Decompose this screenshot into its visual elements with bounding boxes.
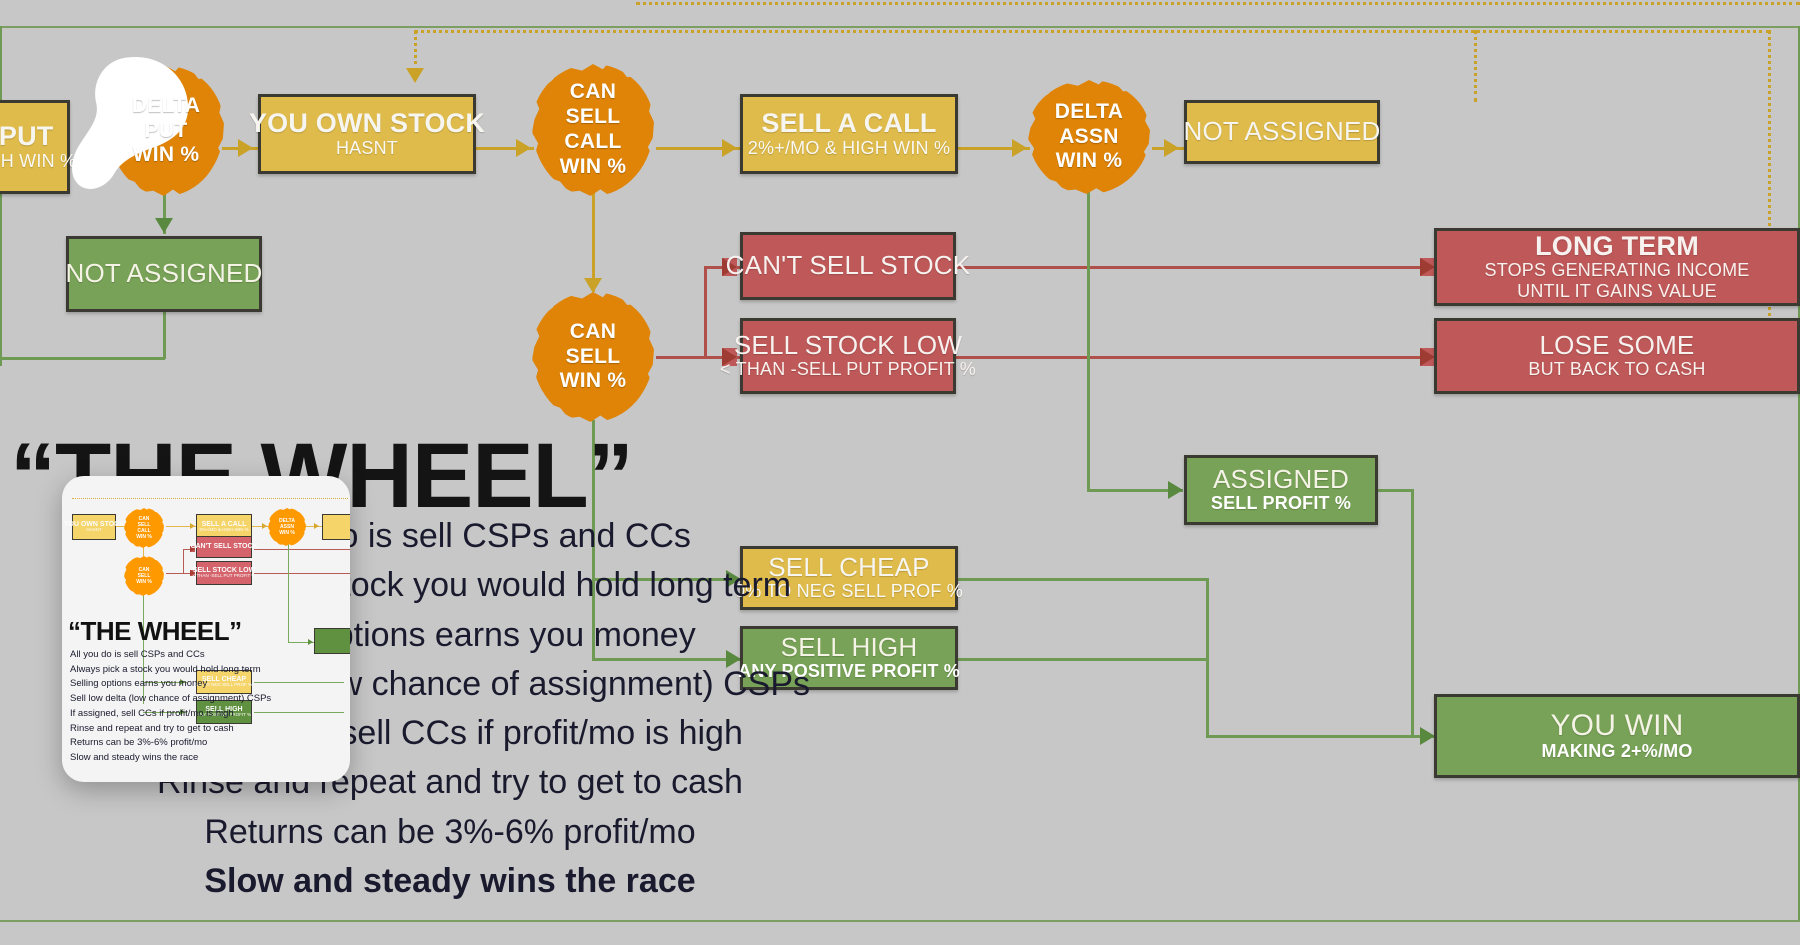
mini-bullet-item: Slow and steady wins the race [70, 751, 271, 766]
mini-gear-can-sell-call[interactable]: CAN SELL CALL WIN % [124, 508, 164, 548]
conn-notassigned-left-down [163, 309, 166, 359]
gear-can-sell-call-line4: WIN % [560, 155, 627, 180]
conn-sellcheap-right [958, 578, 1208, 581]
mini-bullet-item: Returns can be 3%-6% profit/mo [70, 736, 271, 751]
node-not-assigned-right[interactable]: NOT ASSIGNED [1184, 100, 1380, 164]
node-you-own-stock-sub: HASNT [336, 138, 398, 159]
conn-assigned-down [1411, 489, 1414, 737]
conn-notassigned-left-back [0, 357, 165, 360]
gear-can-sell-line2: SELL [566, 345, 621, 370]
node-cant-sell-stock-title: CAN'T SELL STOCK [726, 252, 971, 279]
mini-node-assigned[interactable] [314, 628, 350, 654]
gear-can-sell[interactable]: CAN SELL WIN % [532, 292, 654, 422]
loop-dotted-top [636, 2, 1800, 5]
mini-gear-delta-assn[interactable]: DELTA ASSN WIN % [268, 508, 306, 546]
conn-sellstocklow-to-losesome [954, 356, 1438, 359]
conn-cantsell-to-longterm [954, 266, 1438, 269]
cursor-lasso-icon [66, 56, 216, 196]
conn-cansell-branch-v [704, 267, 707, 359]
node-sell-a-put-sub: 2%+/MO & HIGH WIN % [0, 151, 76, 172]
conn-to-youwin [1206, 735, 1440, 738]
gear-delta-assn-line2: ASSN [1059, 125, 1119, 150]
node-you-own-stock[interactable]: YOU OWN STOCK HASNT [258, 94, 476, 174]
conn-deltaassn-to-assigned-arrow [1168, 481, 1183, 499]
node-lose-some[interactable]: LOSE SOME BUT BACK TO CASH [1434, 318, 1800, 394]
gear-can-sell-call-line1: CAN [570, 80, 616, 105]
gear-delta-put-line3: WIN % [133, 143, 200, 168]
mini-node-you-own-stock[interactable]: YOU OWN STOCK HASNT [72, 514, 116, 540]
node-long-term-sub2: UNTIL IT GAINS VALUE [1517, 281, 1717, 302]
mini-node-you-own-stock-sub: HASNT [86, 528, 101, 533]
mini-bullet-item: Sell low delta (low chance of assignment… [70, 692, 271, 707]
loop-dotted-far-right [1768, 30, 1771, 360]
conn-deltaassn-to-notassigned-arrow [1164, 139, 1179, 157]
gear-can-sell-call-line3: CALL [564, 130, 621, 155]
mini-conn-red-right-2 [254, 573, 350, 574]
conn-sellstocklow-to-losesome-arrow [1420, 348, 1435, 366]
conn-put-to-ownstock-arrow [238, 139, 253, 157]
conn-deltaassn-down [1087, 180, 1090, 490]
mini-conn-grn-v [288, 542, 289, 642]
slide-canvas: SELL A PUT 2%+/MO & HIGH WIN % NOT ASSIG… [0, 0, 1800, 945]
node-assigned[interactable]: ASSIGNED SELL PROFIT % [1184, 455, 1378, 525]
gear-delta-put-line2: PUT [145, 119, 188, 144]
mini-node-sell-stock-low[interactable]: SELL STOCK LOW < THAN -SELL PUT PROFIT % [196, 561, 252, 585]
mini-node-cant-sell-stock[interactable]: CAN'T SELL STOCK [196, 536, 252, 558]
gear-delta-assn[interactable]: DELTA ASSN WIN % [1028, 80, 1150, 194]
loop-dotted-arrow [406, 68, 424, 83]
conn-ownstock-to-cansellcall-arrow [516, 139, 531, 157]
node-assigned-title: ASSIGNED [1213, 466, 1349, 493]
node-sell-a-put[interactable]: SELL A PUT 2%+/MO & HIGH WIN % [0, 100, 70, 194]
gear-delta-assn-line3: WIN % [1056, 149, 1123, 174]
node-sell-a-put-title: SELL A PUT [0, 122, 54, 150]
conn-to-youwin-arrow [1420, 727, 1435, 745]
loop-dotted-down-left [414, 30, 417, 72]
mini-node-sell-stock-low-sub: < THAN -SELL PUT PROFIT % [193, 574, 256, 579]
node-you-own-stock-title: YOU OWN STOCK [249, 109, 485, 137]
node-sell-stock-low[interactable]: SELL STOCK LOW < THAN -SELL PUT PROFIT % [740, 318, 956, 394]
mini-gear-can-sell-line3: WIN % [136, 579, 152, 585]
conn-deltaput-down-arrow [155, 218, 173, 233]
mini-conn-4 [304, 526, 322, 527]
node-lose-some-sub: BUT BACK TO CASH [1528, 359, 1705, 380]
node-long-term-sub: STOPS GENERATING INCOME [1485, 260, 1750, 281]
node-sell-a-call-title: SELL A CALL [761, 109, 936, 137]
mini-conn-red-right-1 [254, 549, 350, 550]
node-sell-a-call-sub: 2%+/MO & HIGH WIN % [748, 138, 950, 159]
node-cant-sell-stock[interactable]: CAN'T SELL STOCK [740, 232, 956, 300]
node-not-assigned-left[interactable]: NOT ASSIGNED [66, 236, 262, 312]
gear-can-sell-call[interactable]: CAN SELL CALL WIN % [532, 64, 654, 196]
conn-cantsell-to-longterm-arrow [1420, 258, 1435, 276]
conn-assigned-right [1378, 489, 1414, 492]
mini-bullet-item: All you do is sell CSPs and CCs [70, 648, 271, 663]
conn-sellcheap-down [1206, 578, 1209, 736]
bullet-item: Returns can be 3%-6% profit/mo [0, 808, 900, 857]
gear-can-sell-line1: CAN [570, 320, 616, 345]
bullet-item: Slow and steady wins the race [0, 857, 900, 906]
mini-conn-red-v [183, 549, 184, 574]
mini-bullet-item: Selling options earns you money [70, 677, 271, 692]
gear-can-sell-call-line2: SELL [566, 105, 621, 130]
slide-left-rule [0, 26, 2, 366]
mini-conn-4-arrow [314, 523, 319, 529]
node-sell-a-call[interactable]: SELL A CALL 2%+/MO & HIGH WIN % [740, 94, 958, 174]
node-you-win-title: YOU WIN [1550, 710, 1683, 742]
node-not-assigned-left-title: NOT ASSIGNED [66, 260, 263, 287]
conn-cansellcall-to-sellcall-arrow [722, 139, 737, 157]
node-long-term-title: LONG TERM [1535, 232, 1699, 260]
gear-can-sell-line3: WIN % [560, 369, 627, 394]
mini-node-sell-a-call-sub: 2%+/MO & HIGH WIN % [199, 528, 249, 533]
node-you-win-sub: MAKING 2+%/MO [1541, 741, 1692, 762]
mini-gear-can-sell-call-line4: WIN % [136, 534, 152, 540]
node-you-win[interactable]: YOU WIN MAKING 2+%/MO [1434, 694, 1800, 778]
node-sell-stock-low-title: SELL STOCK LOW [734, 332, 962, 359]
mini-conn-red-1 [166, 573, 184, 574]
mini-conn-2-arrow [190, 523, 195, 529]
loop-dotted-mid [414, 30, 1770, 33]
mini-bullet-item: Rinse and repeat and try to get to cash [70, 722, 271, 737]
conn-sellcall-to-deltaassn-arrow [1012, 139, 1027, 157]
slide-bottom-rule [0, 920, 1800, 922]
gear-delta-put-line1: DELTA [132, 94, 200, 119]
node-sell-stock-low-sub: < THAN -SELL PUT PROFIT % [720, 359, 976, 380]
conn-cansellcall-down [592, 192, 595, 292]
loop-dotted-down-right [1474, 30, 1477, 102]
slide-top-rule [0, 26, 1800, 28]
conn-cansell-branch [656, 356, 706, 359]
mini-bullet-item: Always pick a stock you would hold long … [70, 663, 271, 678]
conn-sellhigh-right [958, 658, 1208, 661]
conn-cansellcall-down-arrow [584, 278, 602, 293]
mini-node-cant-sell-stock-title: CAN'T SELL STOCK [190, 543, 257, 550]
node-lose-some-title: LOSE SOME [1540, 332, 1695, 359]
mini-gear-delta-assn-line3: WIN % [279, 530, 295, 536]
thumbnail-overlay-panel[interactable]: YOU OWN STOCK HASNT SELL A CALL 2%+/MO &… [62, 476, 350, 782]
mini-conn-grn-assigned-arrow [308, 639, 313, 645]
gear-delta-assn-line1: DELTA [1055, 100, 1123, 125]
node-assigned-sub: SELL PROFIT % [1211, 493, 1351, 514]
node-not-assigned-right-title: NOT ASSIGNED [1184, 118, 1381, 145]
mini-page-title: “THE WHEEL” [68, 616, 242, 647]
mini-gear-can-sell[interactable]: CAN SELL WIN % [124, 556, 164, 596]
mini-loop-dotted [72, 498, 348, 499]
mini-conn-3-arrow [262, 523, 267, 529]
node-long-term[interactable]: LONG TERM STOPS GENERATING INCOME UNTIL … [1434, 228, 1800, 306]
mini-bullet-item: If assigned, sell CCs if profit/mo is hi… [70, 707, 271, 722]
mini-node-not-assigned[interactable] [322, 514, 350, 540]
mini-bullet-list: All you do is sell CSPs and CCs Always p… [70, 648, 271, 766]
